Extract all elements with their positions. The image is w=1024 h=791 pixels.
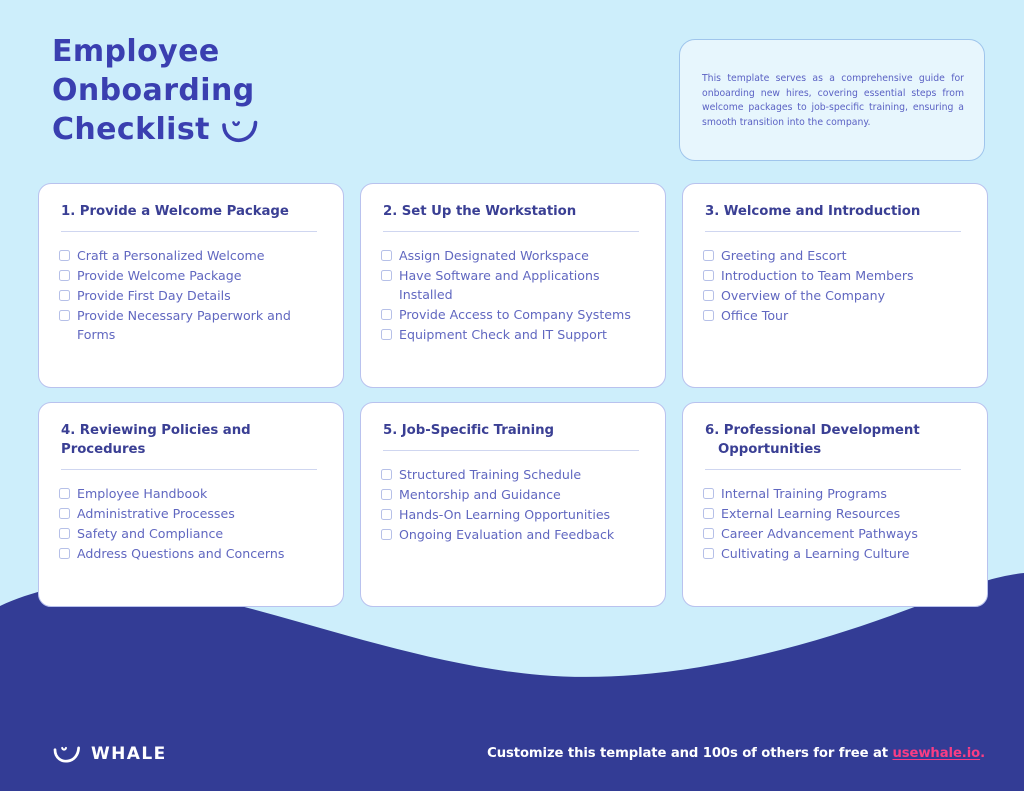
- checklist-item[interactable]: Provide Access to Company Systems: [381, 305, 645, 325]
- checklist-item-label: Structured Training Schedule: [399, 465, 581, 484]
- checklist-item[interactable]: Assign Designated Workspace: [381, 246, 645, 266]
- checklist-item[interactable]: Overview of the Company: [703, 286, 967, 306]
- checklist-item-label: Provide Welcome Package: [77, 266, 242, 285]
- card-5-divider: [383, 450, 639, 451]
- checklist-item-label: Safety and Compliance: [77, 524, 223, 543]
- checklist-item[interactable]: Provide First Day Details: [59, 286, 323, 306]
- checklist-item[interactable]: Have Software and Applications Installed: [381, 266, 645, 305]
- checklist-item-label: Office Tour: [721, 306, 788, 325]
- card-6-divider: [705, 469, 961, 470]
- checklist-card-2: 2. Set Up the Workstation Assign Designa…: [360, 183, 666, 388]
- card-3-divider: [705, 231, 961, 232]
- checklist-item-label: External Learning Resources: [721, 504, 900, 523]
- checklist-item-label: Equipment Check and IT Support: [399, 325, 607, 344]
- checklist-item[interactable]: Safety and Compliance: [59, 524, 323, 544]
- checklist-card-3: 3. Welcome and Introduction Greeting and…: [682, 183, 988, 388]
- template-description-box: This template serves as a comprehensive …: [679, 39, 985, 161]
- checklist-item[interactable]: Introduction to Team Members: [703, 266, 967, 286]
- checklist-item-label: Provide First Day Details: [77, 286, 231, 305]
- card-6-title-line-2: Opportunities: [705, 440, 967, 459]
- checkbox-icon[interactable]: [703, 290, 714, 301]
- checkbox-icon[interactable]: [703, 310, 714, 321]
- checkbox-icon[interactable]: [703, 250, 714, 261]
- checkbox-icon[interactable]: [703, 548, 714, 559]
- checklist-item-label: Assign Designated Workspace: [399, 246, 589, 265]
- checklist-card-5: 5. Job-Specific Training Structured Trai…: [360, 402, 666, 607]
- card-2-checklist: Assign Designated Workspace Have Softwar…: [381, 246, 645, 345]
- checkbox-icon[interactable]: [59, 310, 70, 321]
- checklist-item-label: Cultivating a Learning Culture: [721, 544, 910, 563]
- checklist-item-label: Craft a Personalized Welcome: [77, 246, 265, 265]
- checkbox-icon[interactable]: [703, 270, 714, 281]
- card-4-title: 4. Reviewing Policies and Procedures: [59, 421, 323, 459]
- checklist-item[interactable]: Ongoing Evaluation and Feedback: [381, 525, 645, 545]
- checklist-card-6: 6. Professional Development Opportunitie…: [682, 402, 988, 607]
- card-1-title: 1. Provide a Welcome Package: [59, 202, 323, 221]
- checklist-item[interactable]: Greeting and Escort: [703, 246, 967, 266]
- card-6-checklist: Internal Training Programs External Lear…: [703, 484, 967, 564]
- checklist-item[interactable]: External Learning Resources: [703, 504, 967, 524]
- whale-smile-icon: [52, 743, 82, 764]
- checklist-item-label: Career Advancement Pathways: [721, 524, 918, 543]
- card-1-divider: [61, 231, 317, 232]
- footer-cta-suffix: .: [980, 746, 985, 761]
- checklist-item[interactable]: Address Questions and Concerns: [59, 544, 323, 564]
- checklist-item-label: Hands-On Learning Opportunities: [399, 505, 610, 524]
- card-4-divider: [61, 469, 317, 470]
- checklist-item[interactable]: Career Advancement Pathways: [703, 524, 967, 544]
- checklist-item-label: Internal Training Programs: [721, 484, 887, 503]
- checkbox-icon[interactable]: [381, 469, 392, 480]
- checklist-item-label: Have Software and Applications Installed: [399, 266, 645, 305]
- checklist-item-label: Greeting and Escort: [721, 246, 847, 265]
- checkbox-icon[interactable]: [59, 488, 70, 499]
- checkbox-icon[interactable]: [59, 270, 70, 281]
- checkbox-icon[interactable]: [703, 488, 714, 499]
- checklist-item-label: Mentorship and Guidance: [399, 485, 561, 504]
- checkbox-icon[interactable]: [381, 529, 392, 540]
- checklist-item[interactable]: Administrative Processes: [59, 504, 323, 524]
- checkbox-icon[interactable]: [703, 528, 714, 539]
- card-3-checklist: Greeting and Escort Introduction to Team…: [703, 246, 967, 326]
- checklist-item-label: Provide Necessary Paperwork and Forms: [77, 306, 323, 345]
- checkbox-icon[interactable]: [381, 250, 392, 261]
- card-3-title: 3. Welcome and Introduction: [703, 202, 967, 221]
- checkbox-icon[interactable]: [59, 548, 70, 559]
- page-header: Employee Onboarding Checklist This templ…: [0, 0, 1024, 175]
- checklist-template-page: Employee Onboarding Checklist This templ…: [0, 0, 1024, 791]
- footer-cta-prefix: Customize this template and 100s of othe…: [487, 746, 892, 761]
- checkbox-icon[interactable]: [381, 309, 392, 320]
- card-5-checklist: Structured Training Schedule Mentorship …: [381, 465, 645, 545]
- checklist-item[interactable]: Office Tour: [703, 306, 967, 326]
- checklist-item[interactable]: Equipment Check and IT Support: [381, 325, 645, 345]
- checklist-item-label: Administrative Processes: [77, 504, 235, 523]
- checklist-item[interactable]: Hands-On Learning Opportunities: [381, 505, 645, 525]
- whale-smile-icon: [220, 116, 260, 144]
- checklist-card-4: 4. Reviewing Policies and Procedures Emp…: [38, 402, 344, 607]
- checkbox-icon[interactable]: [59, 508, 70, 519]
- checklist-card-1: 1. Provide a Welcome Package Craft a Per…: [38, 183, 344, 388]
- checklist-cards-grid: 1. Provide a Welcome Package Craft a Per…: [38, 183, 988, 607]
- card-6-title: 6. Professional Development Opportunitie…: [703, 421, 967, 459]
- card-6-title-line-1: 6. Professional Development: [705, 423, 920, 438]
- checkbox-icon[interactable]: [381, 509, 392, 520]
- footer-cta: Customize this template and 100s of othe…: [487, 746, 985, 761]
- checklist-item[interactable]: Provide Necessary Paperwork and Forms: [59, 306, 323, 345]
- checklist-item[interactable]: Internal Training Programs: [703, 484, 967, 504]
- checklist-item-label: Overview of the Company: [721, 286, 885, 305]
- page-title-line-3: Checklist: [52, 110, 210, 149]
- card-2-divider: [383, 231, 639, 232]
- card-4-checklist: Employee Handbook Administrative Process…: [59, 484, 323, 564]
- checkbox-icon[interactable]: [59, 250, 70, 261]
- footer-brand[interactable]: WHALE: [52, 743, 167, 764]
- checklist-item[interactable]: Employee Handbook: [59, 484, 323, 504]
- card-1-checklist: Craft a Personalized Welcome Provide Wel…: [59, 246, 323, 345]
- checklist-item[interactable]: Cultivating a Learning Culture: [703, 544, 967, 564]
- checklist-item[interactable]: Provide Welcome Package: [59, 266, 323, 286]
- checkbox-icon[interactable]: [703, 508, 714, 519]
- checklist-item-label: Ongoing Evaluation and Feedback: [399, 525, 614, 544]
- checkbox-icon[interactable]: [59, 290, 70, 301]
- checklist-item[interactable]: Craft a Personalized Welcome: [59, 246, 323, 266]
- card-2-title: 2. Set Up the Workstation: [381, 202, 645, 221]
- page-title-line-2: Onboarding: [52, 71, 472, 110]
- footer-wordmark: WHALE: [91, 744, 167, 764]
- checklist-item-label: Introduction to Team Members: [721, 266, 914, 285]
- page-title-line-1: Employee: [52, 32, 472, 71]
- checkbox-icon[interactable]: [381, 270, 392, 281]
- checklist-item[interactable]: Mentorship and Guidance: [381, 485, 645, 505]
- card-5-title: 5. Job-Specific Training: [381, 421, 645, 440]
- usewhale-link[interactable]: usewhale.io: [892, 746, 980, 761]
- checklist-item[interactable]: Structured Training Schedule: [381, 465, 645, 485]
- page-title: Employee Onboarding Checklist: [52, 32, 472, 149]
- page-footer: WHALE Customize this template and 100s o…: [0, 716, 1024, 791]
- template-description-text: This template serves as a comprehensive …: [702, 72, 964, 130]
- checklist-item-label: Employee Handbook: [77, 484, 207, 503]
- page-title-line-3-row: Checklist: [52, 110, 472, 149]
- checkbox-icon[interactable]: [381, 489, 392, 500]
- checkbox-icon[interactable]: [381, 329, 392, 340]
- checklist-item-label: Address Questions and Concerns: [77, 544, 284, 563]
- checklist-item-label: Provide Access to Company Systems: [399, 305, 631, 324]
- checkbox-icon[interactable]: [59, 528, 70, 539]
